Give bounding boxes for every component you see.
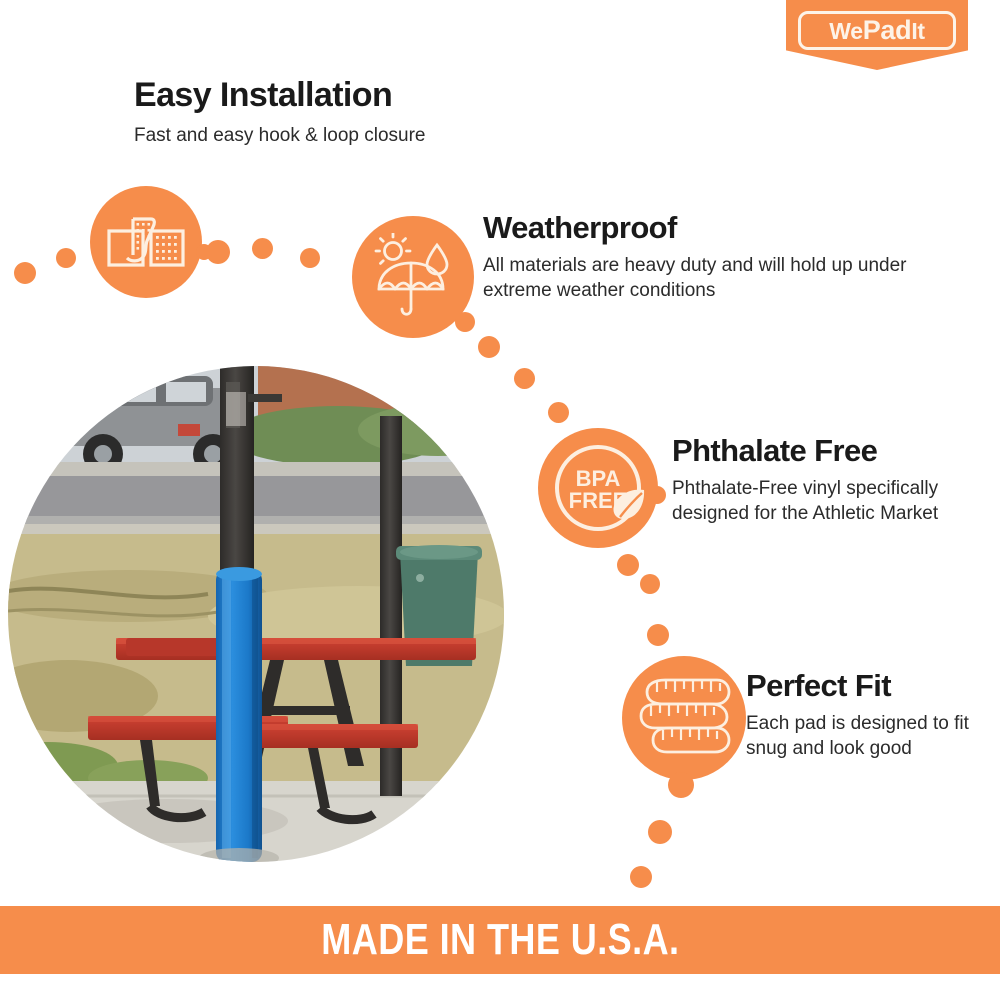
logo-text: WePadIt [829,15,925,46]
trail-dot [252,238,273,259]
feature-title: Perfect Fit [746,670,986,703]
trail-dot [14,262,36,284]
trail-dot [548,402,569,423]
logo-outline-box: WePadIt [798,11,956,50]
trail-dot [300,248,320,268]
trail-dot [56,248,76,268]
trail-dot [514,368,535,389]
hook-and-loop-strip-icon [90,186,202,298]
infographic-page: WePadIt [0,0,1000,987]
feature-body: All materials are heavy duty and will ho… [483,253,913,304]
feature-title: Phthalate Free [672,435,962,468]
trail-dot [630,866,652,888]
feature-body: Each pad is designed to fit snug and loo… [746,711,986,762]
feature-easy-installation: Easy Installation Fast and easy hook & l… [134,78,564,148]
feature-title: Easy Installation [134,78,564,114]
made-in-usa-banner: MADE IN THE U.S.A. [0,906,1000,974]
trail-dot [206,240,230,264]
trail-dot [640,574,660,594]
product-photo [8,366,504,862]
bpa-free-leaf-icon: BPA FREE [538,428,658,548]
badge-nub [648,486,666,504]
feature-weatherproof: Weatherproof All materials are heavy dut… [483,212,913,304]
feature-phthalate-free: Phthalate Free Phthalate-Free vinyl spec… [672,435,962,527]
trail-dot [478,336,500,358]
feature-perfect-fit: Perfect Fit Each pad is designed to fit … [746,670,986,762]
feature-body: Fast and easy hook & loop closure [134,123,564,149]
made-in-usa-text: MADE IN THE U.S.A. [321,915,679,965]
brand-logo[interactable]: WePadIt [786,0,968,70]
badge-nub [668,772,694,798]
badge-nub [455,312,475,332]
trail-dot [647,624,669,646]
trail-dot [648,820,672,844]
feature-title: Weatherproof [483,212,913,245]
trail-dot [617,554,639,576]
feature-body: Phthalate-Free vinyl specifically design… [672,476,962,527]
measuring-tape-icon [622,656,746,780]
